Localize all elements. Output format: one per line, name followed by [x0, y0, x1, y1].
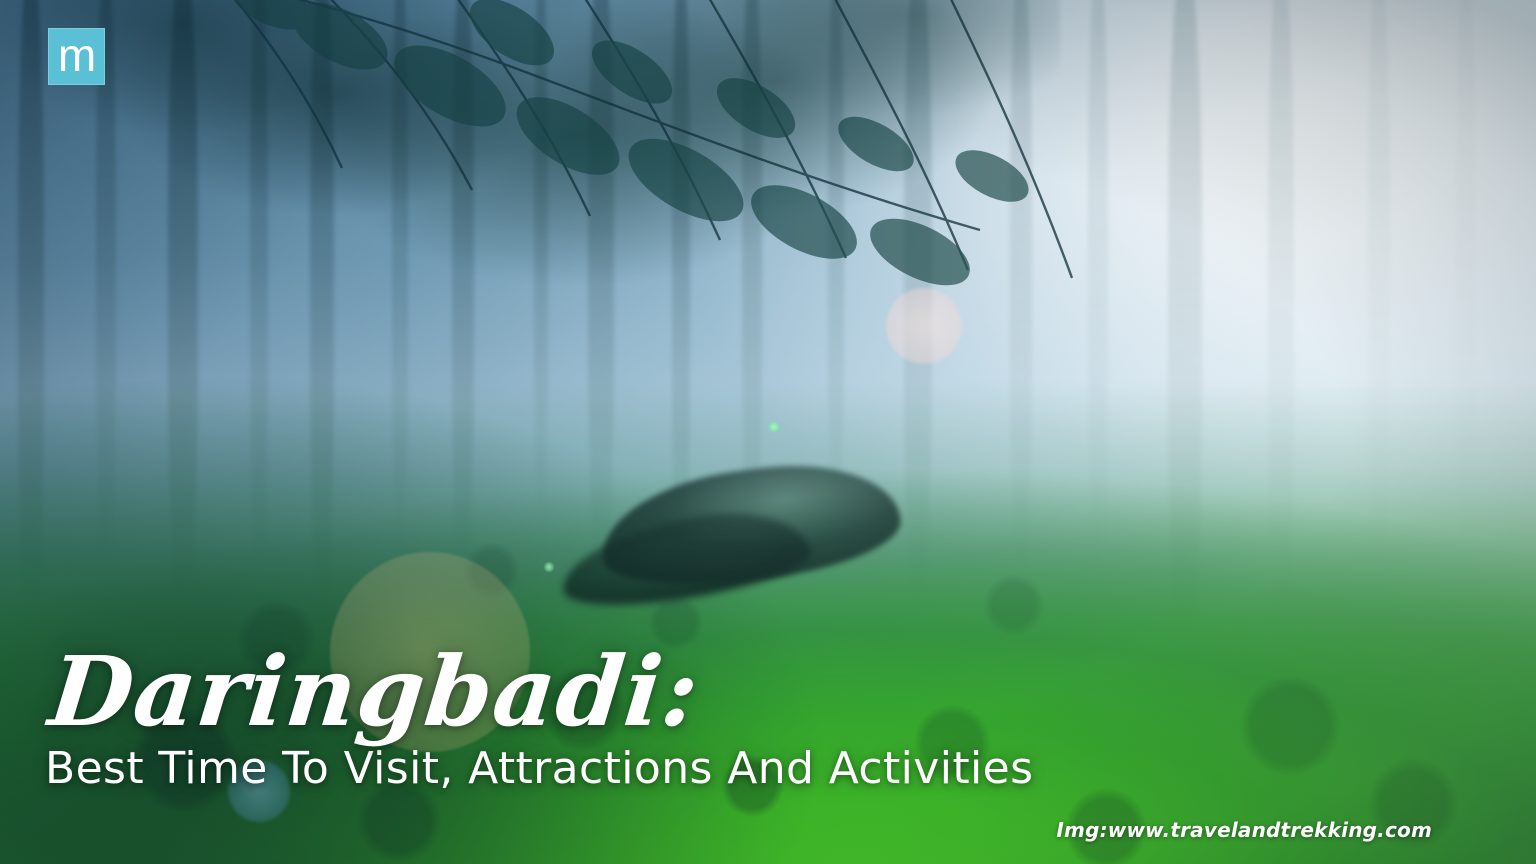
logo-m-icon: m: [58, 32, 95, 78]
page-subtitle: Best Time To Visit, Attractions And Acti…: [45, 746, 1145, 792]
hero-banner: m Daringbadi: Best Time To Visit, Attrac…: [0, 0, 1536, 864]
page-title: Daringbadi:: [45, 644, 1155, 740]
headline-block: Daringbadi: Best Time To Visit, Attracti…: [45, 644, 1145, 792]
image-credit: Img:www.travelandtrekking.com: [1056, 818, 1432, 842]
site-logo[interactable]: m: [48, 28, 105, 85]
